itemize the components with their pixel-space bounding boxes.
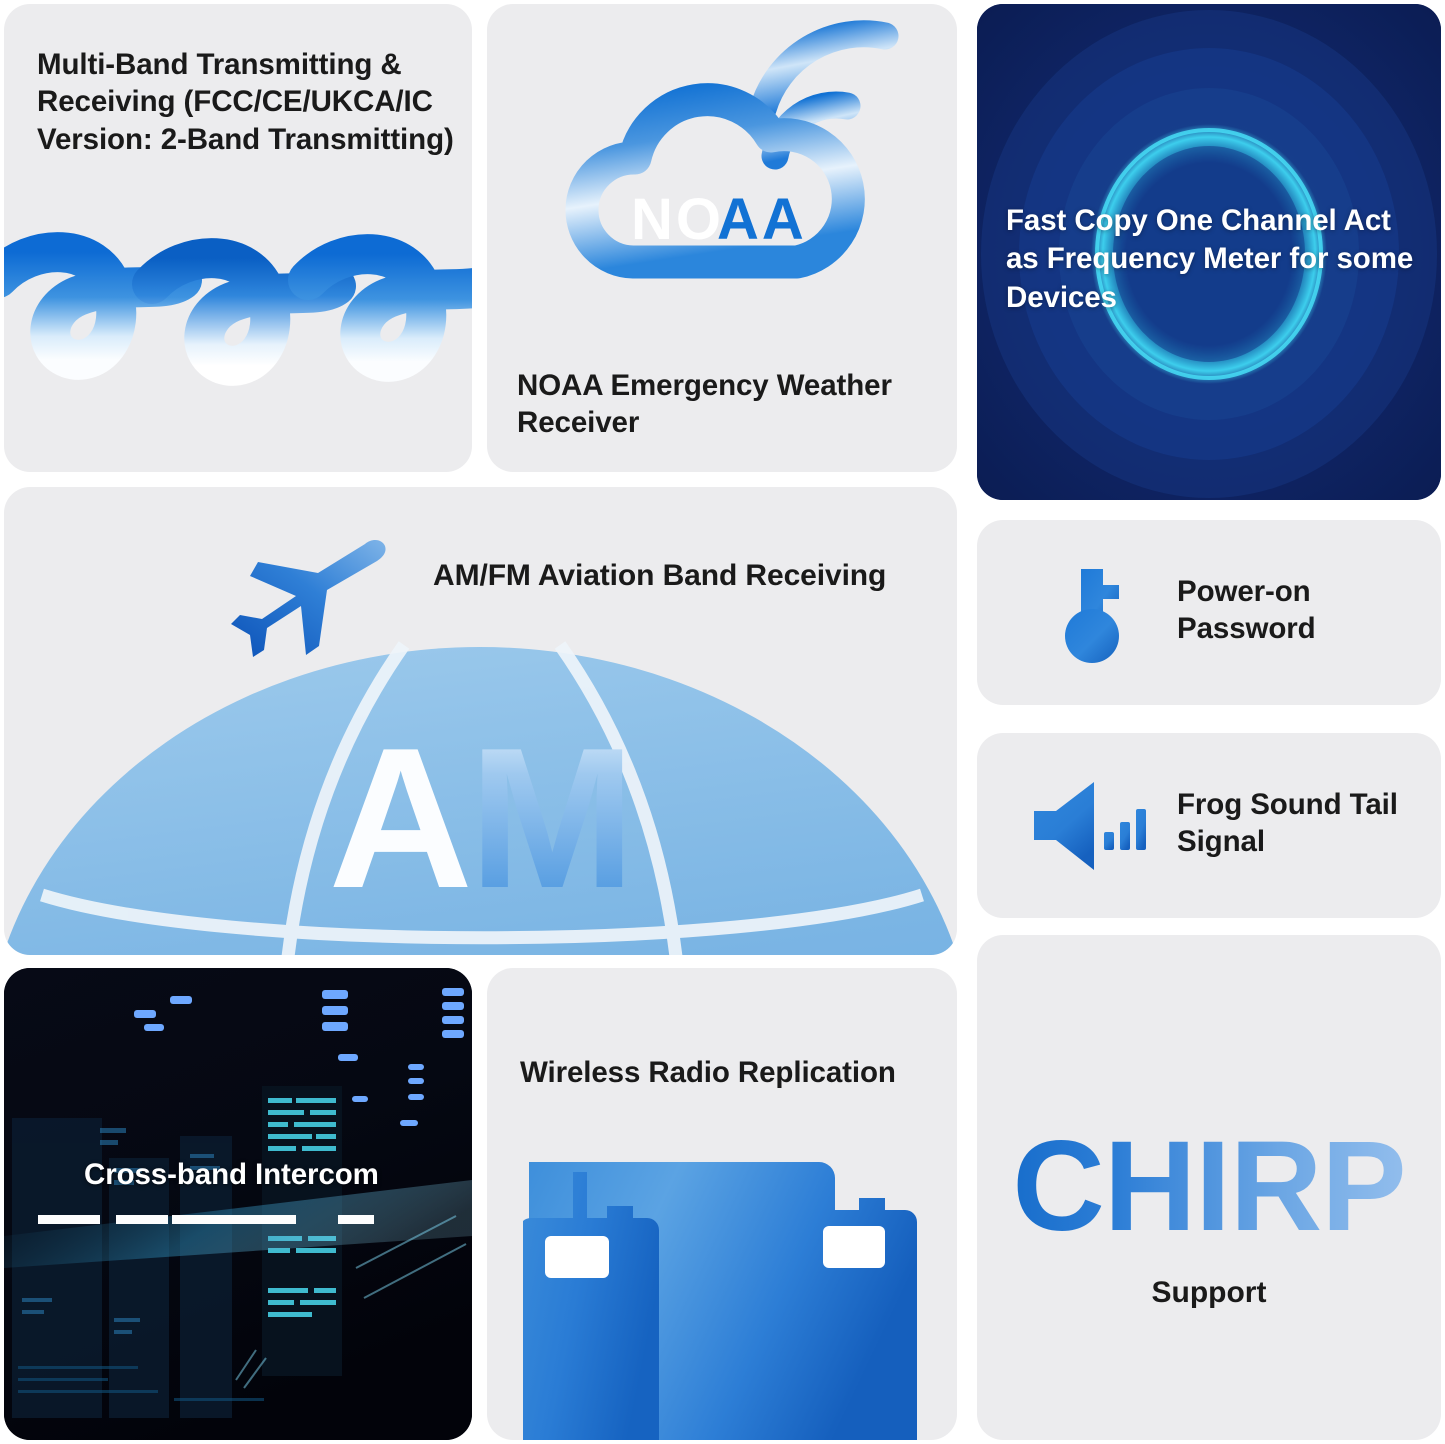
progress-dashes xyxy=(4,1215,472,1227)
feature-card-noaa: NO AA NOAA Emergency Weather Receiver xyxy=(487,4,957,472)
cyber-city-photo xyxy=(4,968,472,1440)
am-letter-m: M xyxy=(469,707,632,930)
feature-card-chirp-support: CHIRP Support xyxy=(977,935,1441,1440)
cloud-with-signal-waves-icon: NO AA xyxy=(513,14,933,354)
svg-text:AM: AM xyxy=(328,707,631,930)
chirp-logo: CHIRP xyxy=(977,1113,1441,1260)
feature-card-frog-sound-tail: Frog Sound Tail Signal xyxy=(977,733,1441,918)
am-fm-aviation-title: AM/FM Aviation Band Receiving xyxy=(433,557,886,595)
wireless-radio-replication-title: Wireless Radio Replication xyxy=(520,1054,896,1091)
helix-coil-icon xyxy=(4,232,472,402)
cross-band-intercom-title: Cross-band Intercom xyxy=(84,1156,379,1193)
feature-card-multi-band: Multi-Band Transmitting & Receiving (FCC… xyxy=(4,4,472,472)
multi-band-title: Multi-Band Transmitting & Receiving (FCC… xyxy=(37,46,457,158)
power-on-password-title: Power-on Password xyxy=(1177,573,1427,648)
feature-card-am-fm-aviation: AM/FM Aviation Band Receiving xyxy=(4,487,957,955)
feature-card-cross-band-intercom: Cross-band Intercom xyxy=(4,968,472,1440)
frog-sound-tail-title: Frog Sound Tail Signal xyxy=(1177,786,1432,861)
am-globe: AM xyxy=(4,637,957,955)
am-letter-a: A xyxy=(328,707,468,930)
speaker-volume-icon xyxy=(1032,778,1157,873)
feature-card-fast-copy: Fast Copy One Channel Act as Frequency M… xyxy=(977,4,1441,500)
feature-card-wireless-radio-replication: Wireless Radio Replication xyxy=(487,968,957,1440)
feature-card-power-on-password: Power-on Password xyxy=(977,520,1441,705)
svg-text:NO: NO xyxy=(631,187,724,252)
fast-copy-title: Fast Copy One Channel Act as Frequency M… xyxy=(1006,202,1426,317)
two-walkie-talkies-icon xyxy=(523,1158,921,1440)
chirp-support-label: Support xyxy=(977,1276,1441,1310)
key-icon xyxy=(1043,565,1143,665)
noaa-title: NOAA Emergency Weather Receiver xyxy=(517,367,937,442)
feature-grid: Multi-Band Transmitting & Receiving (FCC… xyxy=(0,0,1445,1444)
svg-text:AA: AA xyxy=(717,187,807,252)
